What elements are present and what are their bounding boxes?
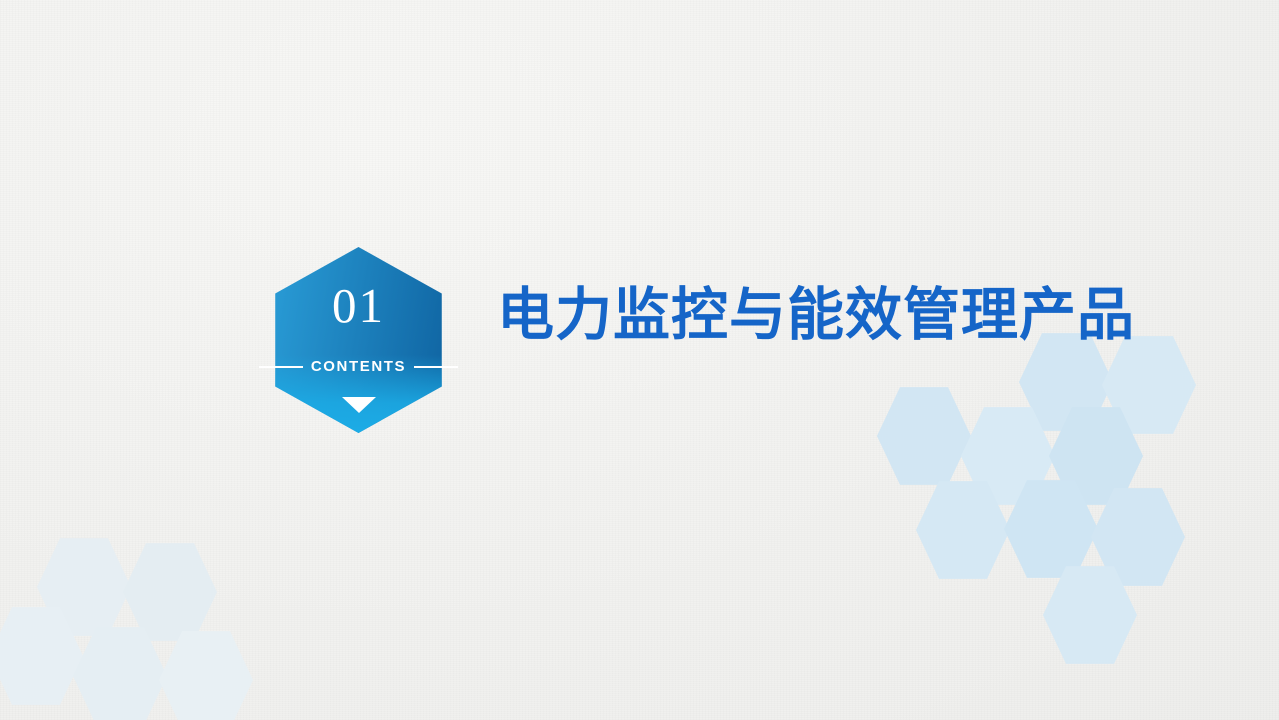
section-number-badge[interactable]: 01 CONTENTS (268, 247, 449, 433)
triangle-down-icon (342, 397, 376, 413)
contents-label: CONTENTS (268, 358, 449, 375)
decor-left-hexagon (158, 628, 254, 720)
presentation-slide: 01 CONTENTS 电力监控与能效管理产品 (0, 0, 1279, 720)
slide-title: 电力监控与能效管理产品 (497, 287, 1135, 344)
section-number: 01 (268, 281, 449, 330)
decor-right-hexagon (876, 384, 972, 488)
